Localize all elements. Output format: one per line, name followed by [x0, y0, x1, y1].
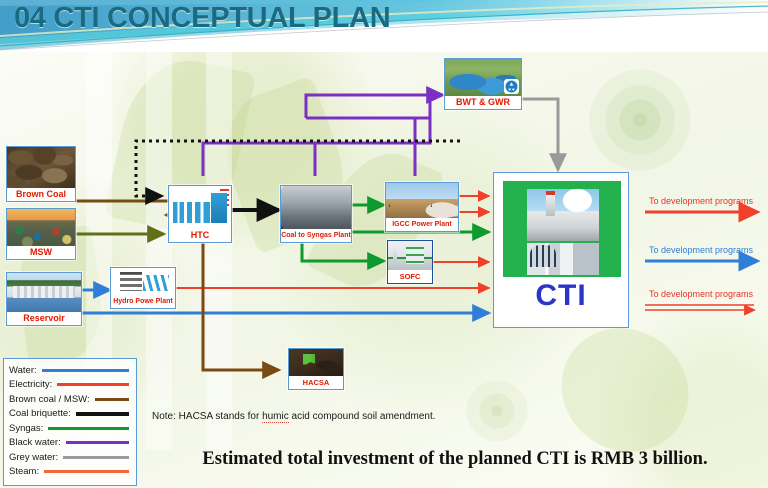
- node-bwt-gwr-label: BWT & GWR: [445, 96, 521, 109]
- node-cti[interactable]: CTI: [493, 172, 629, 328]
- node-hacsa[interactable]: HACSA: [288, 348, 344, 390]
- legend-label-electricity: Electricity:: [9, 379, 52, 390]
- sofc-building-image: [388, 241, 432, 270]
- investment-statement: Estimated total investment of the planne…: [150, 449, 760, 470]
- recycle-icon: [504, 79, 519, 94]
- node-htc-label: HTC: [169, 229, 231, 242]
- legend-item-black-water: Black water:: [9, 436, 131, 451]
- node-brown-coal[interactable]: Brown Coal: [6, 146, 76, 202]
- node-htc[interactable]: HTC: [168, 185, 232, 243]
- syngas-plant-image: [281, 186, 351, 229]
- node-hydro-power-plant[interactable]: Hydro Powe Plant: [110, 267, 176, 309]
- legend-label-syngas: Syngas:: [9, 423, 43, 434]
- legend-label-grey-water: Grey water:: [9, 452, 58, 463]
- htc-chart-image: [169, 186, 231, 229]
- node-hacsa-label: HACSA: [289, 376, 343, 389]
- dam-reservoir-image: [7, 273, 81, 312]
- legend-swatch-grey-water: [63, 456, 129, 459]
- legend-swatch-black-water: [66, 441, 129, 444]
- output-label-1: To development programs: [649, 196, 753, 206]
- footnote: Note: HACSA stands for humic acid compou…: [152, 411, 436, 422]
- seedling-soil-image: [289, 349, 343, 376]
- node-sofc[interactable]: SOFC: [387, 240, 433, 284]
- legend-swatch-steam: [44, 470, 129, 473]
- node-bwt-gwr[interactable]: BWT & GWR: [444, 58, 522, 110]
- legend-swatch-electricity: [57, 383, 129, 386]
- legend-swatch-water: [42, 369, 129, 372]
- page-header: 04 CTI CONCEPTUAL PLAN: [0, 0, 768, 52]
- legend: Water: Electricity: Brown coal / MSW: Co…: [3, 358, 137, 486]
- legend-item-grey-water: Grey water:: [9, 450, 131, 465]
- footnote-suffix: acid compound soil amendment.: [289, 411, 436, 422]
- node-coal-to-syngas-plant[interactable]: Coal to Syngas Plant: [280, 185, 352, 243]
- industrial-plant-image: [503, 181, 621, 277]
- coal-pile-image: [7, 147, 75, 188]
- output-label-3: To development programs: [649, 289, 753, 299]
- legend-label-brown-coal-msw: Brown coal / MSW:: [9, 394, 90, 405]
- hydro-plant-image: [111, 268, 175, 295]
- node-msw[interactable]: MSW: [6, 208, 76, 260]
- legend-swatch-coal-briquette: [76, 412, 129, 416]
- water-treatment-image: [445, 59, 521, 96]
- footnote-underlined: humic: [262, 411, 289, 423]
- node-syngas-label: Coal to Syngas Plant: [281, 229, 351, 242]
- legend-label-steam: Steam:: [9, 466, 39, 477]
- node-igcc-power-plant[interactable]: IGCC Power Plant: [385, 182, 459, 232]
- node-cti-label: CTI: [494, 279, 628, 313]
- node-reservoir-label: Reservoir: [7, 312, 81, 325]
- landfill-image: [7, 209, 75, 246]
- legend-item-syngas: Syngas:: [9, 421, 131, 436]
- output-label-2: To development programs: [649, 245, 753, 255]
- legend-item-water: Water:: [9, 363, 131, 378]
- node-reservoir[interactable]: Reservoir: [6, 272, 82, 326]
- node-brown-coal-label: Brown Coal: [7, 188, 75, 201]
- node-hydro-label: Hydro Powe Plant: [111, 295, 175, 308]
- node-msw-label: MSW: [7, 246, 75, 259]
- page-title: 04 CTI CONCEPTUAL PLAN: [14, 2, 390, 35]
- legend-swatch-brown-coal-msw: [95, 398, 129, 401]
- node-igcc-label: IGCC Power Plant: [386, 218, 458, 231]
- legend-item-electricity: Electricity:: [9, 378, 131, 393]
- legend-item-coal-briquette: Coal briquette:: [9, 407, 131, 422]
- footnote-prefix: Note: HACSA stands for: [152, 411, 262, 422]
- legend-label-black-water: Black water:: [9, 437, 61, 448]
- power-pylon-image: [386, 183, 458, 218]
- legend-label-coal-briquette: Coal briquette:: [9, 408, 71, 419]
- node-sofc-label: SOFC: [388, 270, 432, 283]
- legend-item-brown-coal-msw: Brown coal / MSW:: [9, 392, 131, 407]
- legend-swatch-syngas: [48, 427, 129, 430]
- legend-label-water: Water:: [9, 365, 37, 376]
- legend-item-steam: Steam:: [9, 465, 131, 480]
